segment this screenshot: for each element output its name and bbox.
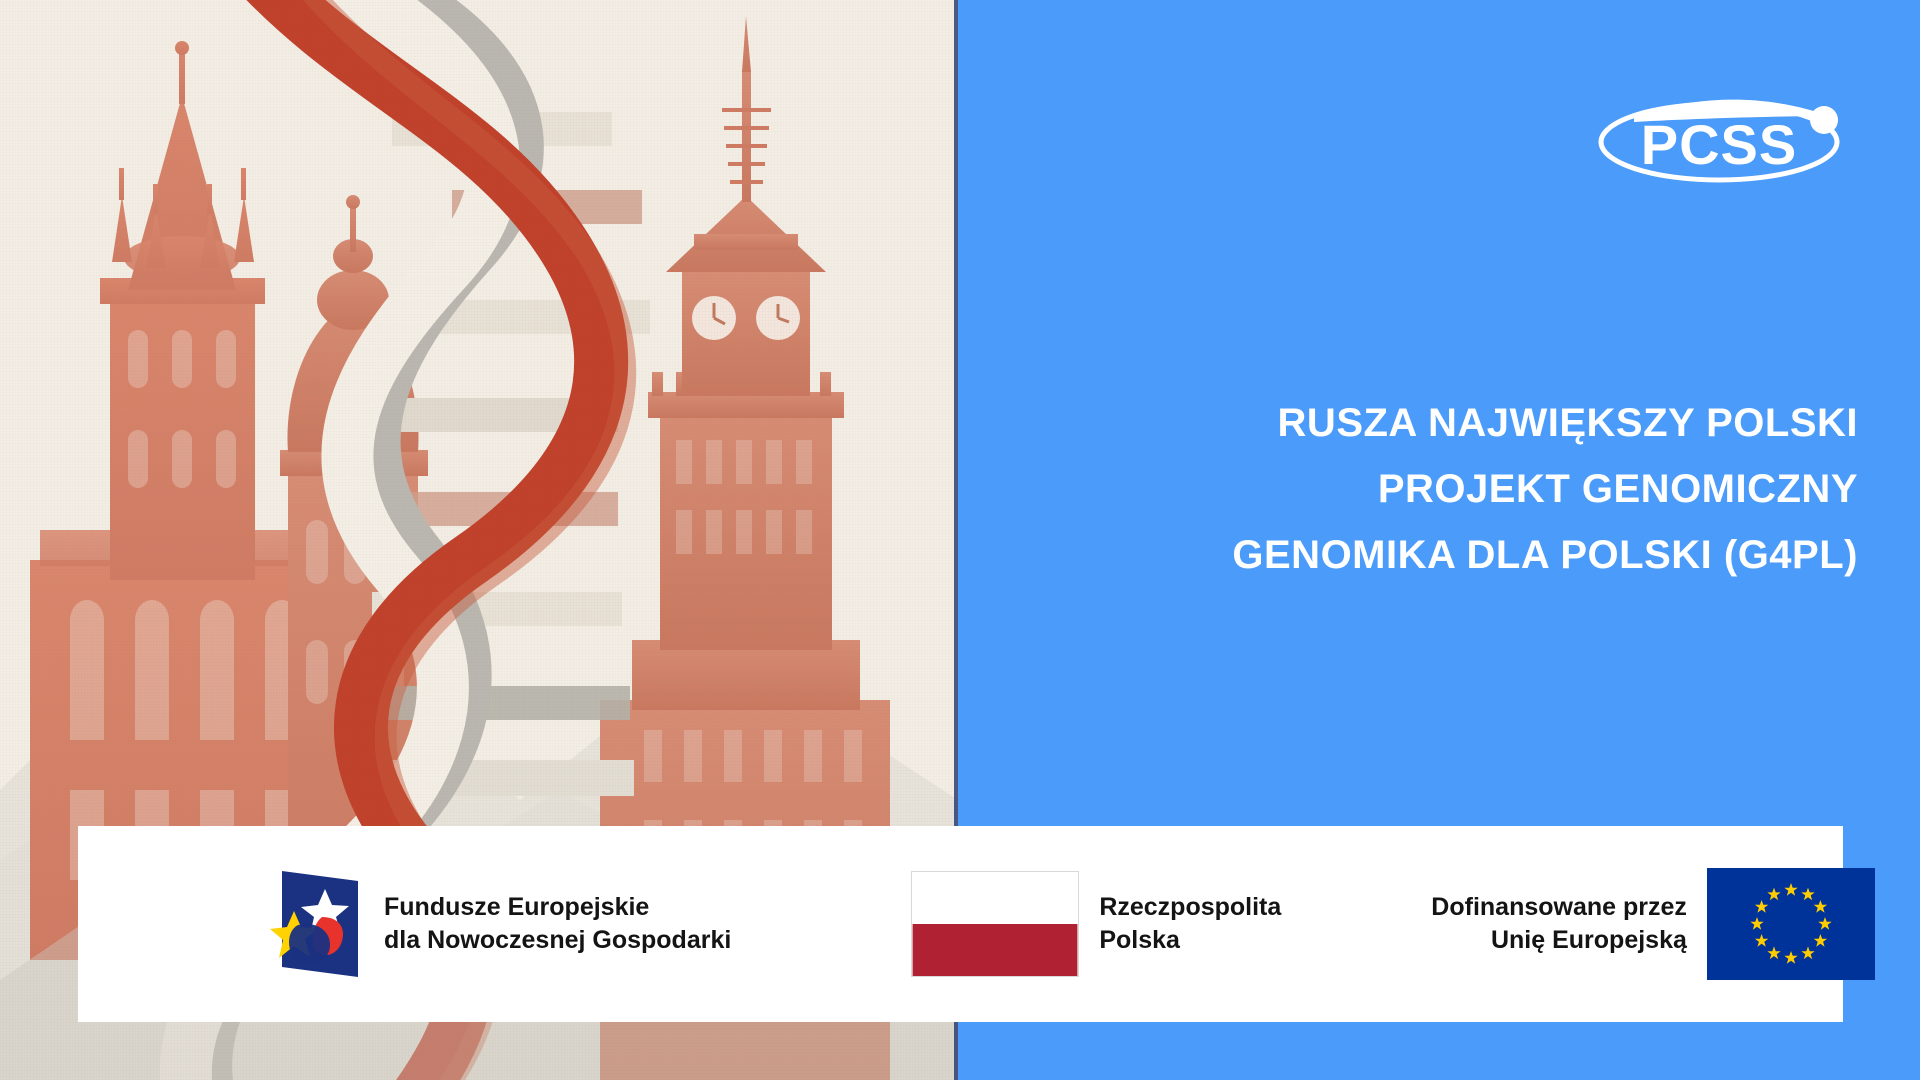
fundusze-europejskie-text: Fundusze Europejskie dla Nowoczesnej Gos… xyxy=(384,891,731,957)
logo-fundusze-europejskie: Fundusze Europejskie dla Nowoczesnej Gos… xyxy=(268,865,731,983)
rp-line-1: Rzeczpospolita xyxy=(1099,891,1281,924)
headline-line-1: RUSZA NAJWIĘKSZY POLSKI xyxy=(1038,390,1858,456)
ue-line-1: Dofinansowane przez xyxy=(1431,891,1687,924)
fe-line-1: Fundusze Europejskie xyxy=(384,891,731,924)
poster-canvas: PCSS RUSZA NAJWIĘKSZY POLSKI PROJEKT GEN… xyxy=(0,0,1920,1080)
funding-logo-bar: Fundusze Europejskie dla Nowoczesnej Gos… xyxy=(78,826,1843,1022)
headline-line-2: PROJEKT GENOMICZNY xyxy=(1038,456,1858,522)
logo-rzeczpospolita-polska: Rzeczpospolita Polska xyxy=(911,871,1281,977)
rzeczpospolita-polska-text: Rzeczpospolita Polska xyxy=(1099,891,1281,957)
page-title: RUSZA NAJWIĘKSZY POLSKI PROJEKT GENOMICZ… xyxy=(1038,390,1858,588)
fe-line-2: dla Nowoczesnej Gospodarki xyxy=(384,924,731,957)
satellite-dot-icon xyxy=(1810,106,1838,134)
pcss-logo[interactable]: PCSS xyxy=(1592,92,1858,187)
ue-line-2: Unię Europejską xyxy=(1431,924,1687,957)
headline-line-3: GENOMIKA DLA POLSKI (G4PL) xyxy=(1038,522,1858,588)
poland-flag-icon xyxy=(911,871,1079,977)
eu-flag-icon xyxy=(1707,868,1875,980)
fundusze-europejskie-mark xyxy=(268,865,364,983)
rp-line-2: Polska xyxy=(1099,924,1281,957)
pcss-wordmark: PCSS xyxy=(1641,113,1798,176)
logo-unia-europejska: Dofinansowane przez Unię Europejską xyxy=(1431,868,1875,980)
dofinansowane-text: Dofinansowane przez Unię Europejską xyxy=(1431,891,1687,957)
